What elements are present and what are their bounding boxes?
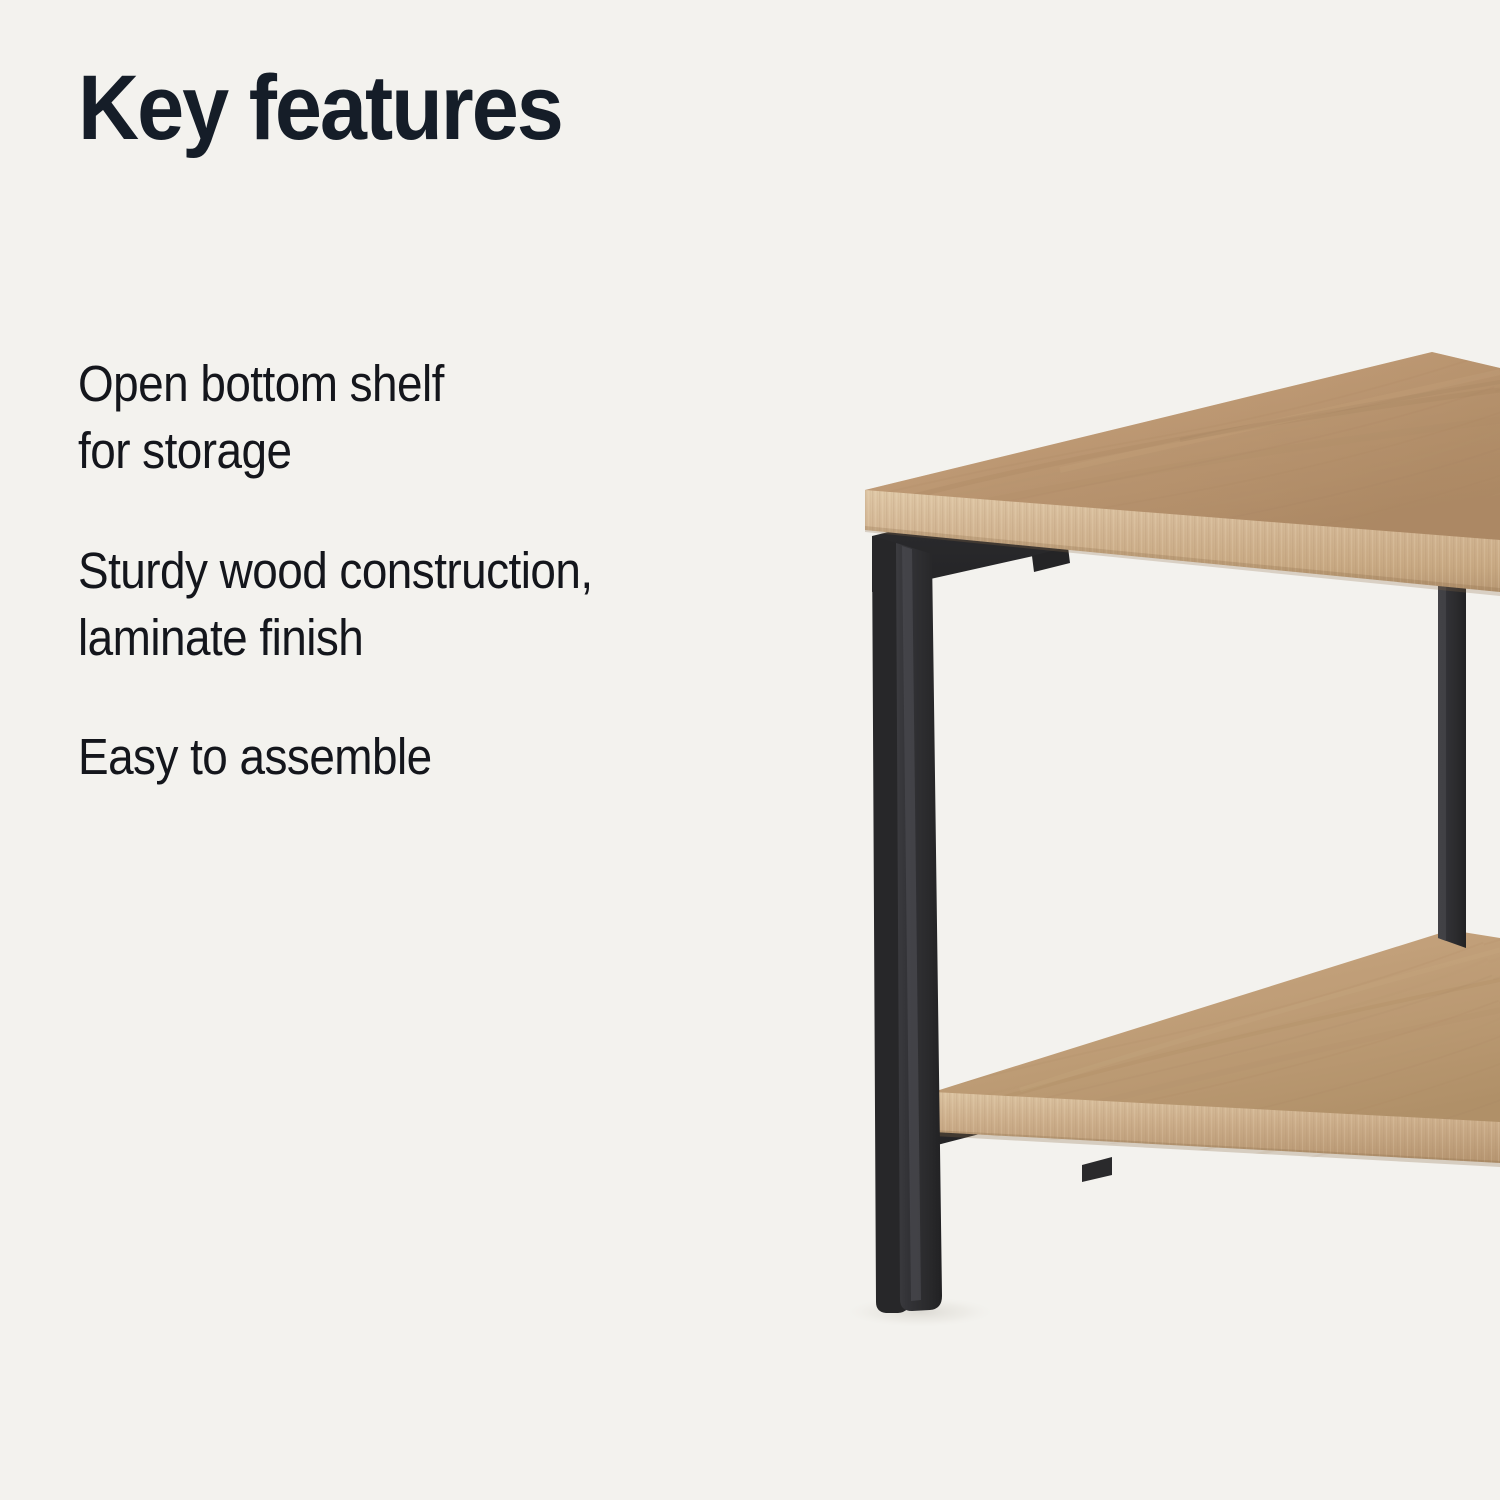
page-title: Key features — [78, 62, 805, 154]
product-photo — [760, 0, 1500, 1500]
rear-leg-group — [1438, 540, 1466, 948]
product-feature-page: Key features Open bottom shelf for stora… — [0, 0, 1500, 1500]
text-column: Key features Open bottom shelf for stora… — [78, 62, 868, 154]
front-left-leg-group — [872, 536, 942, 1313]
coffee-table-illustration — [760, 0, 1500, 1500]
feature-item-sturdy-wood-construction: Sturdy wood construction, laminate finis… — [78, 537, 798, 672]
feature-list: Open bottom shelf for storage Sturdy woo… — [78, 350, 878, 791]
rear-leg-highlight — [1438, 540, 1446, 941]
photo-background — [760, 0, 1500, 1500]
feature-item-open-bottom-shelf: Open bottom shelf for storage — [78, 350, 798, 485]
feature-item-easy-to-assemble: Easy to assemble — [78, 723, 798, 790]
